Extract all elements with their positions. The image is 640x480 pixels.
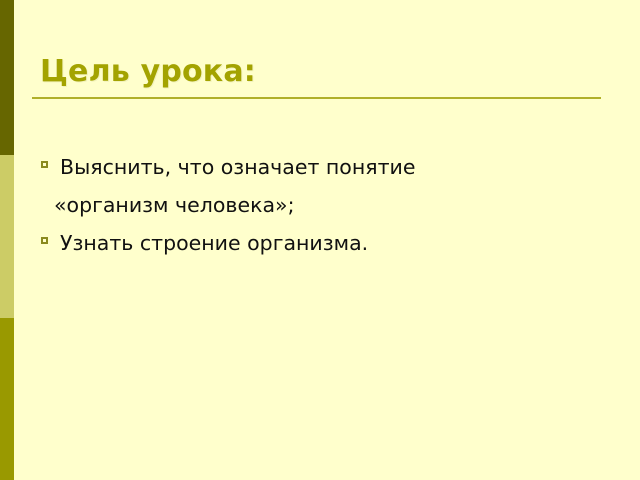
left-color-bands [0, 0, 14, 480]
title-separator-rule [32, 97, 601, 99]
objectives-list: Выяснить, что означает понятие «организм… [38, 148, 598, 262]
list-item: Узнать строение организма. [38, 224, 598, 262]
list-item-label: Выяснить, что означает понятие [60, 155, 415, 179]
slide-canvas: Цель урока: Выяснить, что означает понят… [0, 0, 640, 480]
sidebar-band-dark-olive [0, 0, 14, 155]
sidebar-band-mid-olive [0, 318, 14, 480]
sidebar-band-light-olive [0, 155, 14, 318]
slide-title: Цель урока: [40, 54, 256, 89]
list-item: Выяснить, что означает понятие [38, 148, 598, 186]
square-bullet-icon [41, 161, 48, 168]
list-item-continuation: «организм человека»; [38, 186, 598, 224]
list-item-label: «организм человека»; [54, 193, 295, 217]
square-bullet-icon [41, 237, 48, 244]
list-item-label: Узнать строение организма. [60, 231, 368, 255]
